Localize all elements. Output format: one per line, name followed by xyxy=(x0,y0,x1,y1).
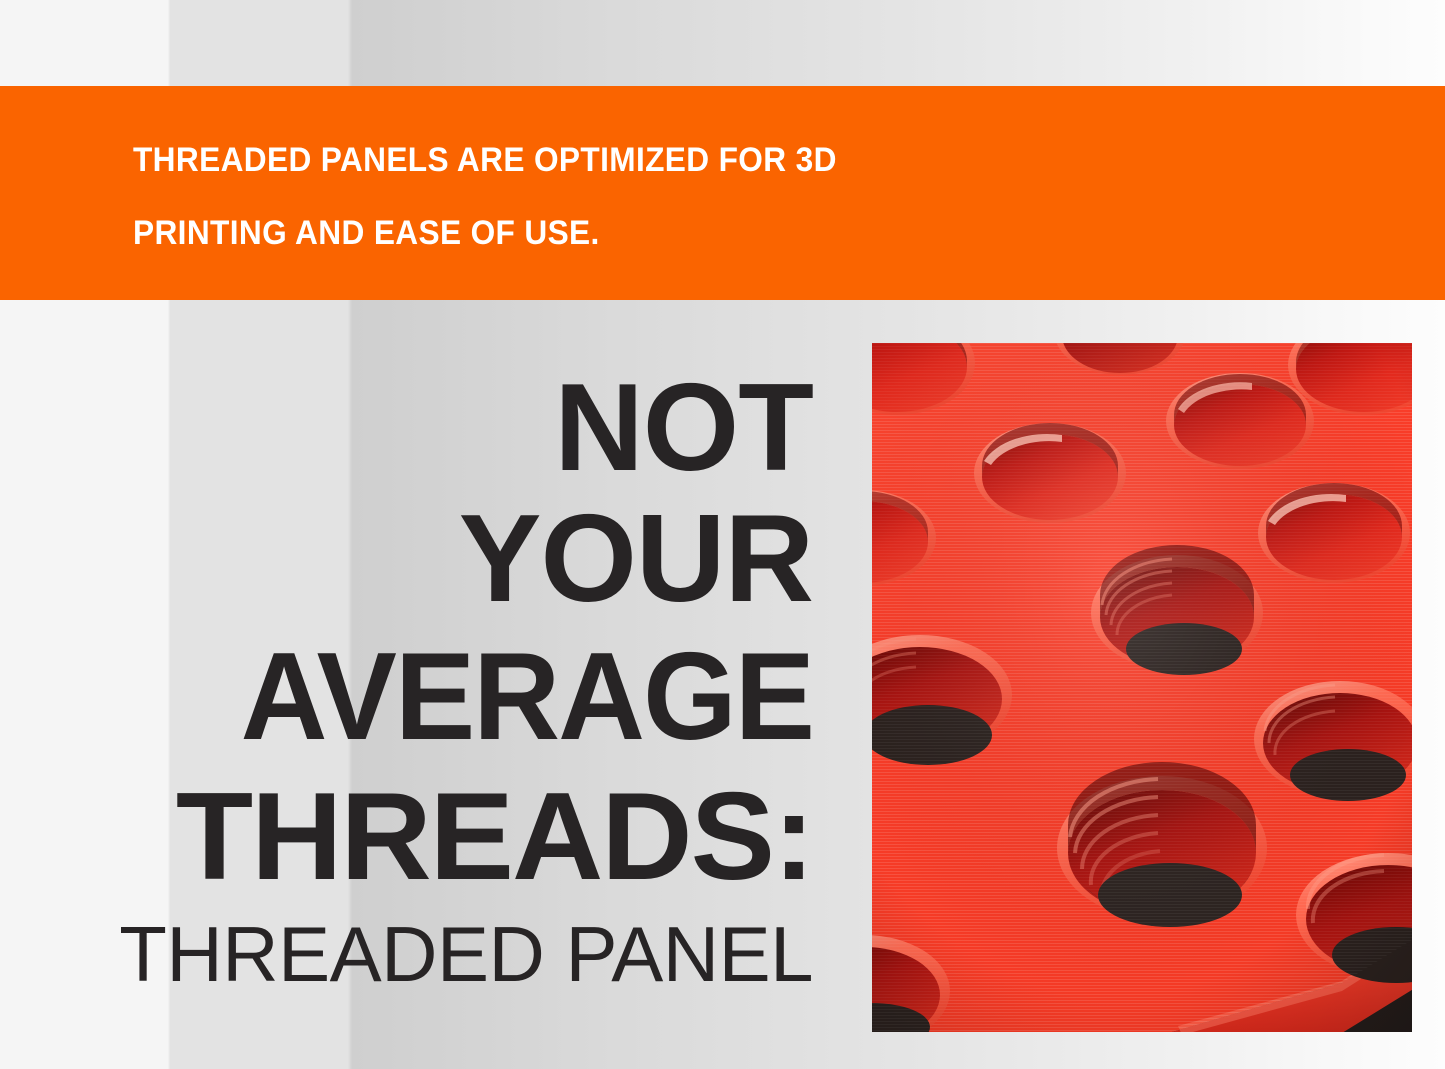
product-photo xyxy=(872,343,1412,1032)
threaded-panel-illustration xyxy=(872,343,1412,1032)
headline-block: NOT YOUR AVERAGE THREADS: THREADED PANEL xyxy=(0,366,813,1000)
headline-line-threads: THREADS: xyxy=(0,766,813,908)
poster-canvas: THREADED PANELS ARE OPTIMIZED FOR 3D PRI… xyxy=(0,0,1445,1069)
banner-line-2: PRINTING AND EASE OF USE. xyxy=(133,197,1156,270)
threaded-panel-photo-render xyxy=(872,343,1412,1032)
orange-banner: THREADED PANELS ARE OPTIMIZED FOR 3D PRI… xyxy=(0,86,1445,300)
banner-text-block: THREADED PANELS ARE OPTIMIZED FOR 3D PRI… xyxy=(133,124,1156,270)
headline-line-your: YOUR xyxy=(0,490,813,628)
banner-line-1: THREADED PANELS ARE OPTIMIZED FOR 3D xyxy=(133,124,1156,197)
headline-line-not: NOT xyxy=(0,366,813,490)
headline-line-average: AVERAGE xyxy=(24,628,813,766)
headline-subtitle: THREADED PANEL xyxy=(0,908,813,1000)
